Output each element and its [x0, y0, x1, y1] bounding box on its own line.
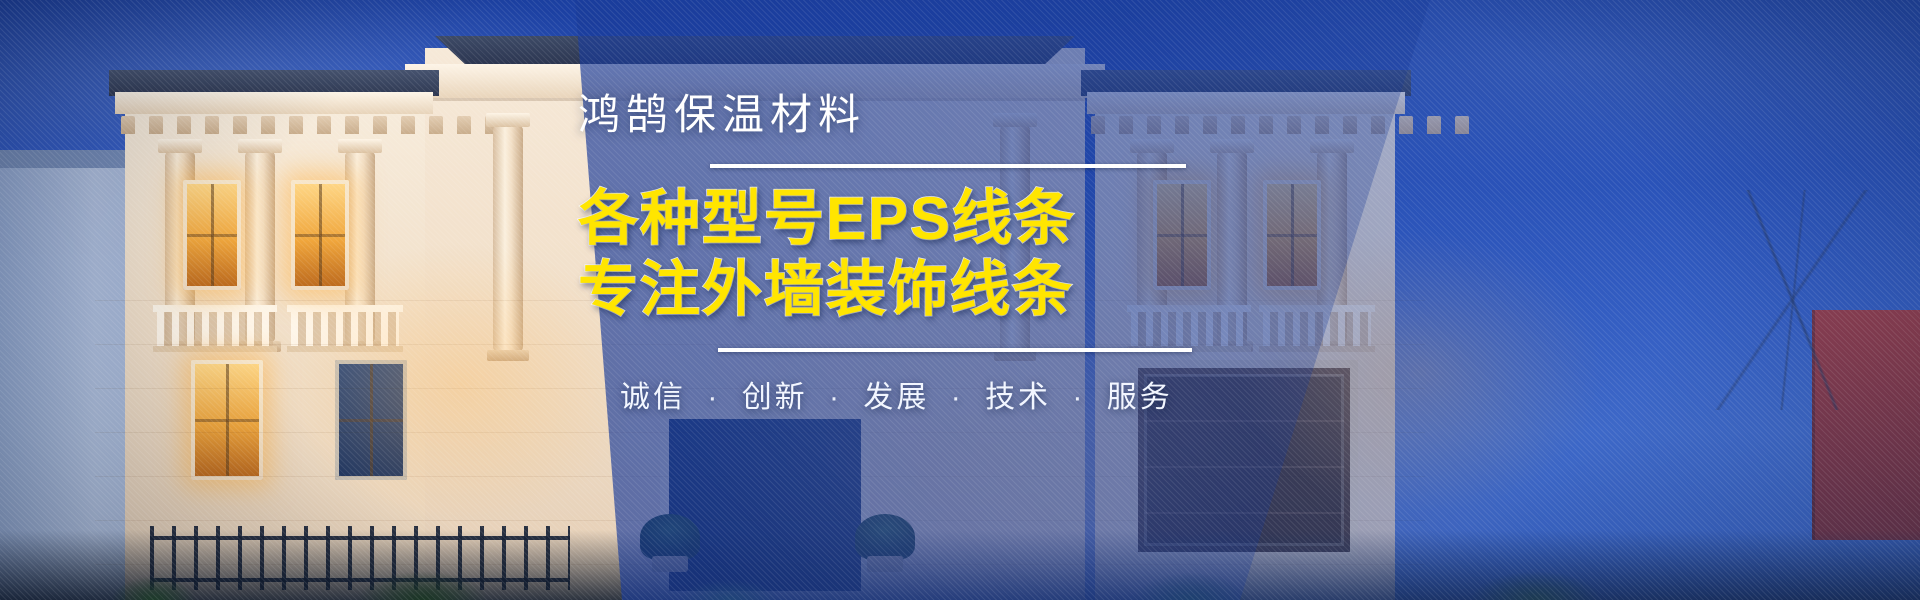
tagline-item-4: 技术	[985, 381, 1051, 414]
tagline-item-1: 诚信	[620, 381, 686, 414]
headline-line-2: 专注外墙装饰线条	[578, 255, 1318, 326]
tagline-item-5: 服务	[1107, 381, 1173, 414]
tagline-separator-4: ·	[1072, 381, 1085, 414]
tagline-separator-3: ·	[951, 381, 964, 414]
brand-name: 鸿鹄保温材料	[578, 92, 1318, 138]
tagline-separator-2: ·	[829, 381, 842, 414]
window-upper-l2	[291, 180, 349, 290]
window-upper-l1	[183, 180, 241, 290]
tagline-separator-1: ·	[707, 381, 720, 414]
villa-left-wing-cornice	[115, 92, 433, 114]
tagline-item-2: 创新	[742, 381, 808, 414]
banner-copy: 鸿鹄保温材料 各种型号EPS线条 专注外墙装饰线条 诚信 · 创新 · 发展 ·…	[578, 92, 1318, 416]
headline-line-1: 各种型号EPS线条	[578, 184, 1318, 255]
divider-bottom	[718, 348, 1192, 352]
hero-banner: 鸿鹄保温材料 各种型号EPS线条 专注外墙装饰线条 诚信 · 创新 · 发展 ·…	[0, 0, 1920, 600]
tagline: 诚信 · 创新 · 发展 · 技术 · 服务	[620, 372, 1318, 416]
tagline-item-3: 发展	[863, 381, 929, 414]
divider-top	[710, 164, 1186, 168]
dentil-row-left	[121, 116, 431, 136]
headline-block: 各种型号EPS线条 专注外墙装饰线条	[578, 184, 1318, 326]
